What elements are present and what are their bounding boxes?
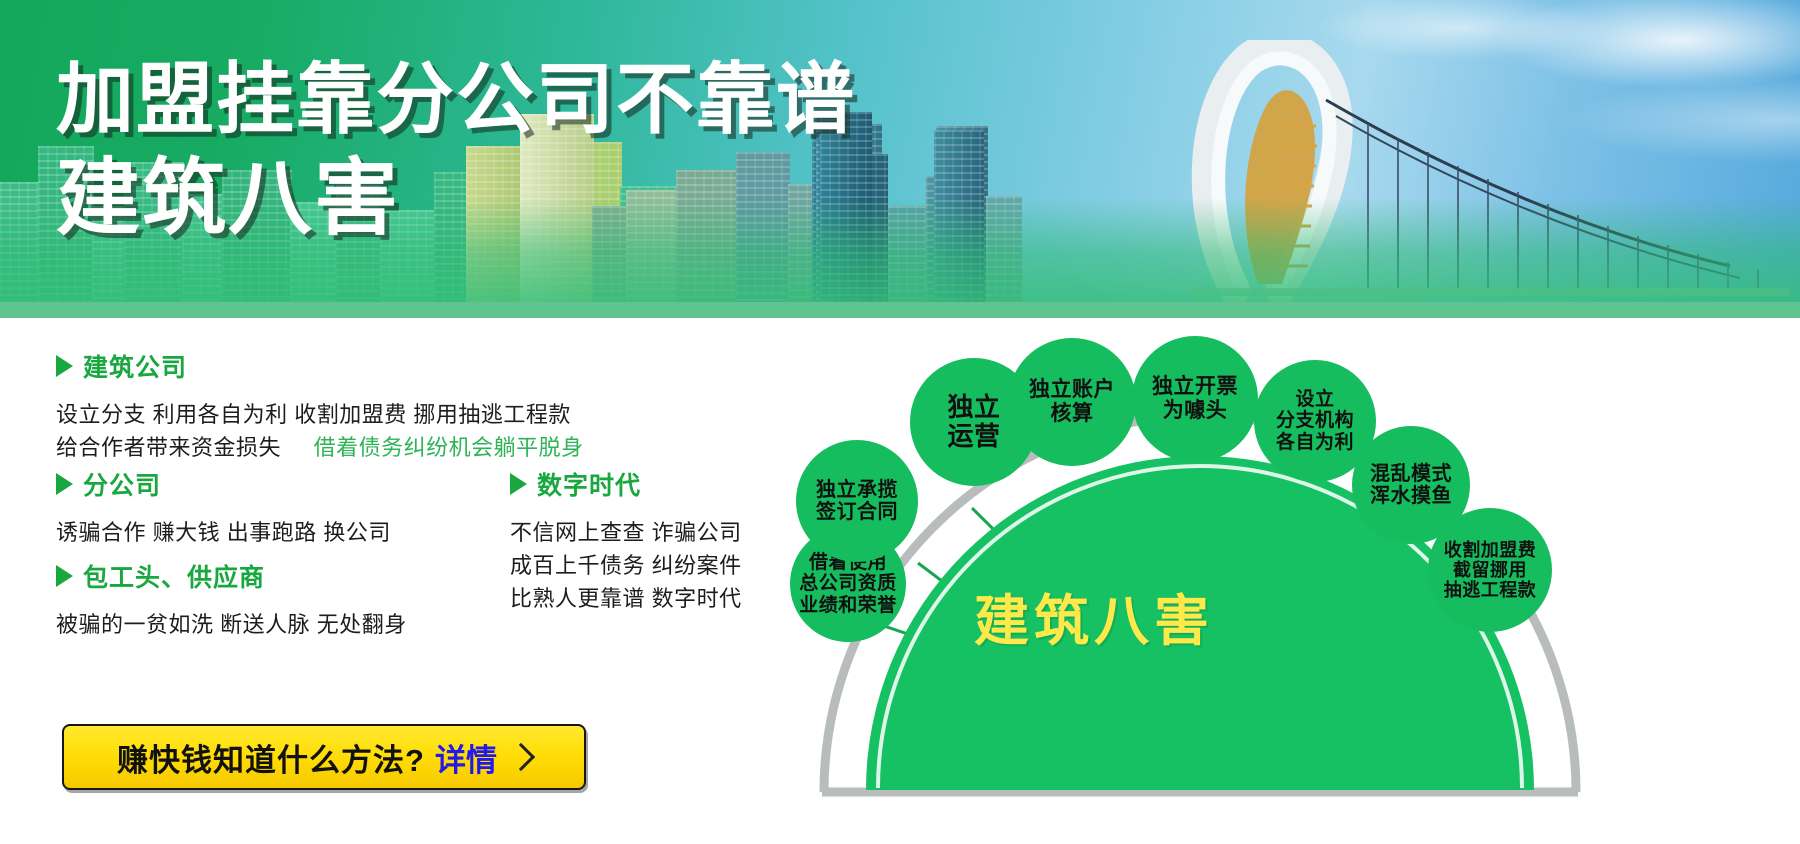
bubble-independent-contracting[interactable]: 独立承揽 签订合同 [796, 440, 918, 562]
bubble-text: 独立开票 为噱头 [1152, 375, 1238, 422]
bubble-text: 独立 运营 [947, 393, 1000, 451]
section-line: 诱骗合作 赚大钱 出事跑路 换公司 [56, 516, 391, 549]
section-heading: 分公司 [56, 466, 391, 502]
headline-line-1: 加盟挂靠分公司不靠谱 [56, 60, 856, 138]
section-title: 数字时代 [537, 466, 641, 502]
bubble-text: 借着使用 总公司资质 业绩和荣誉 [799, 552, 897, 616]
cta-main-label: 赚快钱知道什么方法? [117, 735, 425, 780]
section-line-text: 给合作者带来资金损失 [56, 435, 281, 460]
section-title: 包工头、供应商 [83, 558, 265, 594]
section-line: 比熟人更靠谱 数字时代 [510, 582, 742, 615]
section-heading: 包工头、供应商 [56, 558, 407, 594]
triangle-bullet-icon [510, 473, 527, 495]
cta-link-label[interactable]: 详情 [435, 735, 497, 780]
bubble-text: 收割加盟费 截留挪用 抽逃工程款 [1444, 540, 1537, 600]
section-line: 不信网上查查 诈骗公司 [510, 516, 742, 549]
section-line: 被骗的一贫如洗 断送人脉 无处翻身 [56, 608, 407, 641]
bubble-independent-invoicing[interactable]: 独立开票 为噱头 [1132, 336, 1258, 462]
bubble-text: 混乱模式 浑水摸鱼 [1370, 463, 1452, 508]
left-content-panel: 建筑公司 设立分支 利用各自为利 收割加盟费 挪用抽逃工程款 给合作者带来资金损… [0, 318, 800, 844]
section-line: 成百上千债务 纠纷案件 [510, 549, 742, 582]
chevron-right-icon [507, 743, 535, 771]
section-heading: 数字时代 [510, 466, 742, 502]
bubble-text: 独立承揽 签订合同 [816, 479, 898, 524]
section-title: 建筑公司 [83, 348, 187, 384]
section-title: 分公司 [83, 466, 161, 502]
section-line: 设立分支 利用各自为利 收割加盟费 挪用抽逃工程款 [56, 398, 584, 431]
hero-banner: 加盟挂靠分公司不靠谱 建筑八害 [0, 0, 1800, 318]
hero-headline: 加盟挂靠分公司不靠谱 建筑八害 [56, 60, 856, 240]
banner-baseline [0, 302, 1800, 318]
bubble-franchise-fee[interactable]: 收割加盟费 截留挪用 抽逃工程款 [1428, 508, 1552, 632]
cta-button[interactable]: 赚快钱知道什么方法? 详情 [62, 724, 586, 790]
section-line-accent: 借着债务纠纷机会躺平脱身 [314, 435, 584, 460]
section-contractor-supplier: 包工头、供应商 被骗的一贫如洗 断送人脉 无处翻身 [56, 558, 407, 641]
section-construction-company: 建筑公司 设立分支 利用各自为利 收割加盟费 挪用抽逃工程款 给合作者带来资金损… [56, 348, 584, 464]
section-line: 给合作者带来资金损失 借着债务纠纷机会躺平脱身 [56, 431, 584, 464]
section-branch-company: 分公司 诱骗合作 赚大钱 出事跑路 换公司 [56, 466, 391, 549]
section-heading: 建筑公司 [56, 348, 584, 384]
triangle-bullet-icon [56, 473, 73, 495]
bubble-diagram: 建筑八害 借着使用 总公司资质 业绩和荣誉 独立承揽 签订合同 独立 运营 独立… [800, 318, 1800, 844]
bubble-independent-account[interactable]: 独立账户 核算 [1008, 338, 1136, 466]
bubble-text: 设立 分支机构 各自为利 [1276, 389, 1354, 453]
headline-line-2: 建筑八害 [56, 156, 856, 240]
dome-label: 建筑八害 [974, 576, 1214, 656]
triangle-bullet-icon [56, 565, 73, 587]
bubble-text: 独立账户 核算 [1029, 378, 1115, 425]
section-digital-age: 数字时代 不信网上查查 诈骗公司 成百上千债务 纠纷案件 比熟人更靠谱 数字时代 [510, 466, 742, 615]
triangle-bullet-icon [56, 355, 73, 377]
